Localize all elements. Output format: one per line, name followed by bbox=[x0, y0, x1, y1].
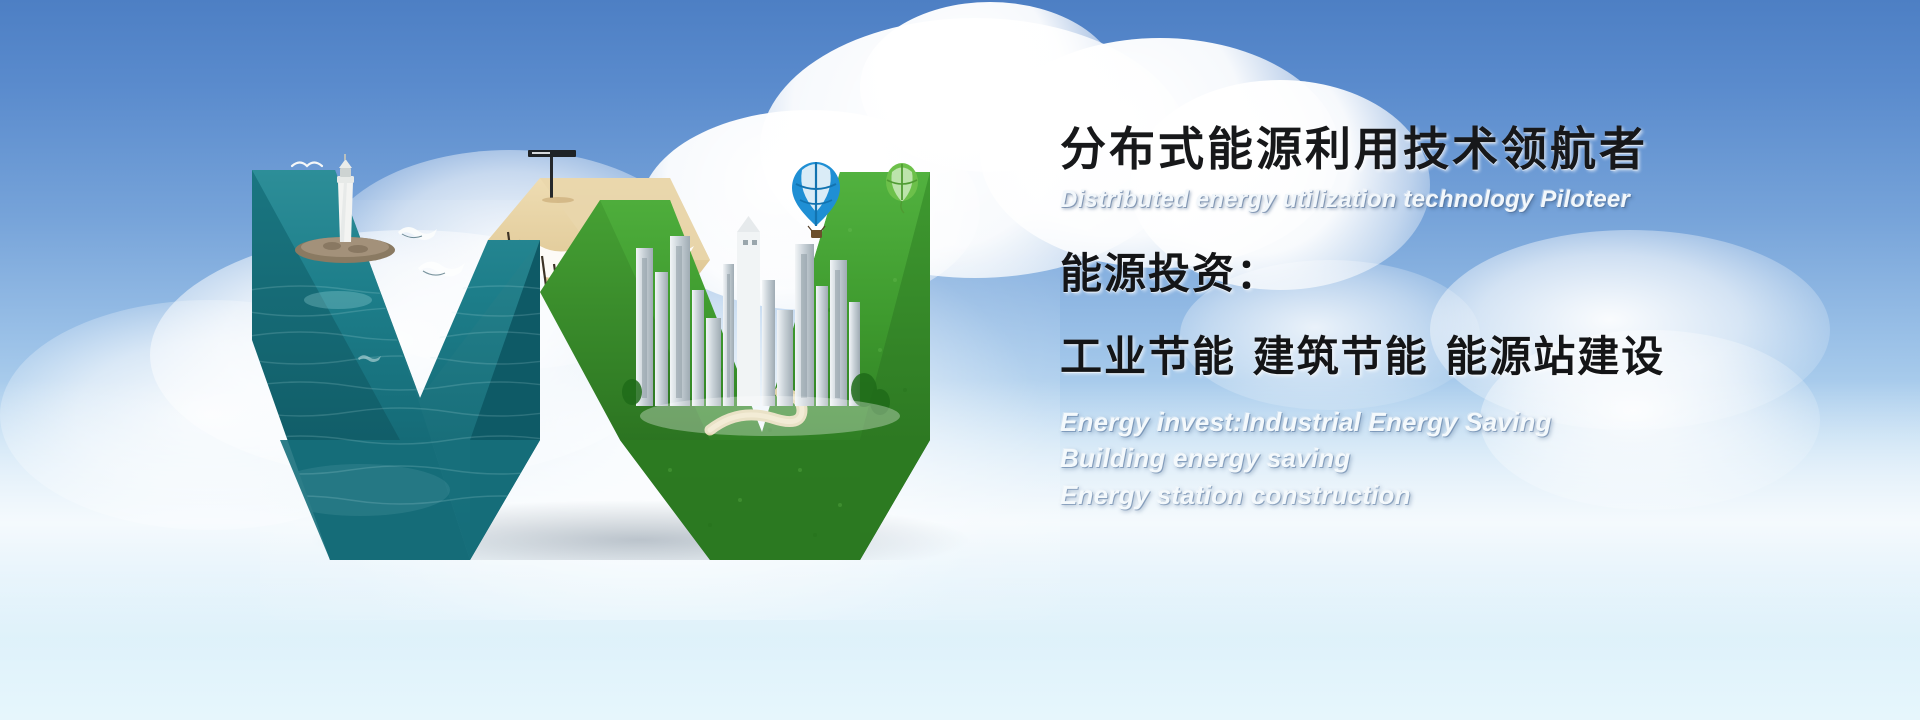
banner-subtitle: Distributed energy utilization technolog… bbox=[1060, 186, 1880, 214]
hero-artwork bbox=[240, 140, 1080, 560]
services-list-en: Energy invest:Industrial Energy Saving B… bbox=[1060, 404, 1880, 515]
grass-segment bbox=[540, 162, 930, 560]
service-en-item: Energy station construction bbox=[1060, 477, 1880, 514]
banner-copy: 分布式能源利用技术领航者 Distributed energy utilizat… bbox=[1060, 124, 1880, 514]
banner-heading: 分布式能源利用技术领航者 bbox=[1060, 124, 1880, 176]
ocean-segment bbox=[250, 154, 550, 560]
hero-banner: 分布式能源利用技术领航者 Distributed energy utilizat… bbox=[0, 0, 1920, 720]
seagull-icon bbox=[398, 227, 437, 240]
service-en-item: Building energy saving bbox=[1060, 440, 1880, 477]
section-label: 能源投资： bbox=[1060, 240, 1880, 301]
services-list-cn: 工业节能 建筑节能 能源站建设 bbox=[1060, 323, 1880, 384]
letter-w-illustration bbox=[240, 140, 1080, 560]
service-en-item: Energy invest:Industrial Energy Saving bbox=[1060, 404, 1880, 441]
seagull-icon bbox=[292, 163, 322, 167]
seagull-icon bbox=[418, 262, 465, 277]
